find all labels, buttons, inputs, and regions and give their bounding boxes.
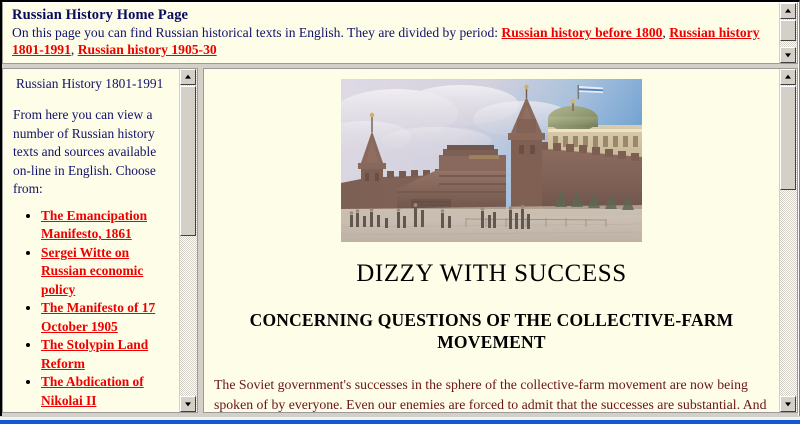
list-item: The Stolypin Land Reform <box>41 336 173 373</box>
page-title: Russian History Home Page <box>12 7 772 23</box>
link-russian-history-before-1800[interactable]: Russian history before 1800 <box>501 25 662 40</box>
red-square-photo <box>341 79 642 242</box>
link-russian-history-1905-30[interactable]: Russian history 1905-30 <box>78 42 217 57</box>
taskbar-strip <box>0 420 800 424</box>
sidebar-title: Russian History 1801-1991 <box>13 76 173 92</box>
sidebar-frame: Russian History 1801-1991 From here you … <box>2 68 198 413</box>
scroll-down-button[interactable] <box>780 396 796 412</box>
chevron-down-icon <box>785 402 791 406</box>
chevron-up-icon <box>785 9 791 13</box>
article-heading: DIZZY WITH SUCCESS <box>212 260 771 288</box>
sidebar-frame-content: Russian History 1801-1991 From here you … <box>3 69 179 412</box>
header-separator-2: , <box>71 42 78 57</box>
sidebar-item-abdication-nikolai-ii[interactable]: The Abdication of Nikolai II <box>41 374 144 408</box>
main-frame: DIZZY WITH SUCCESS CONCERNING QUESTIONS … <box>203 68 798 413</box>
header-frame: Russian History Home Page On this page y… <box>2 2 798 64</box>
chevron-down-icon <box>185 402 191 406</box>
scroll-down-button[interactable] <box>780 47 796 63</box>
scrollbar-thumb[interactable] <box>780 86 796 190</box>
scroll-up-button[interactable] <box>180 69 196 85</box>
sidebar-item-manifesto-october-1905[interactable]: The Manifesto of 17 October 1905 <box>41 300 155 334</box>
sidebar-item-sergei-witte[interactable]: Sergei Witte on Russian economic policy <box>41 245 143 297</box>
sidebar-scrollbar-vertical[interactable] <box>179 69 197 412</box>
list-item: The Manifesto of 17 October 1905 <box>41 299 173 336</box>
scrollbar-thumb[interactable] <box>180 86 196 236</box>
scroll-down-button[interactable] <box>180 396 196 412</box>
scroll-up-button[interactable] <box>780 3 796 19</box>
header-scrollbar-vertical[interactable] <box>779 3 797 63</box>
sidebar-item-emancipation-manifesto[interactable]: The Emancipation Manifesto, 1861 <box>41 208 147 242</box>
sidebar-link-list: The Emancipation Manifesto, 1861 Sergei … <box>13 207 173 411</box>
sidebar-intro: From here you can view a number of Russi… <box>13 106 173 199</box>
main-scrollbar-vertical[interactable] <box>779 69 797 412</box>
header-intro-text: On this page you can find Russian histor… <box>12 25 501 40</box>
article-body-paragraph: The Soviet government's successes in the… <box>214 375 769 412</box>
header-frame-content: Russian History Home Page On this page y… <box>3 3 779 63</box>
list-item: The Abdication of Nikolai II <box>41 373 173 410</box>
header-intro-paragraph: On this page you can find Russian histor… <box>12 24 772 58</box>
main-frame-content: DIZZY WITH SUCCESS CONCERNING QUESTIONS … <box>204 69 779 412</box>
article-subheading: CONCERNING QUESTIONS OF THE COLLECTIVE-F… <box>212 309 771 353</box>
browser-window: Russian History Home Page On this page y… <box>0 0 800 424</box>
chevron-up-icon <box>785 75 791 79</box>
chevron-down-icon <box>785 53 791 57</box>
scrollbar-thumb[interactable] <box>780 20 796 41</box>
list-item: Sergei Witte on Russian economic policy <box>41 244 173 300</box>
chevron-up-icon <box>185 75 191 79</box>
list-item: The Emancipation Manifesto, 1861 <box>41 207 173 244</box>
sidebar-item-stolypin-land-reform[interactable]: The Stolypin Land Reform <box>41 337 148 371</box>
scroll-up-button[interactable] <box>780 69 796 85</box>
